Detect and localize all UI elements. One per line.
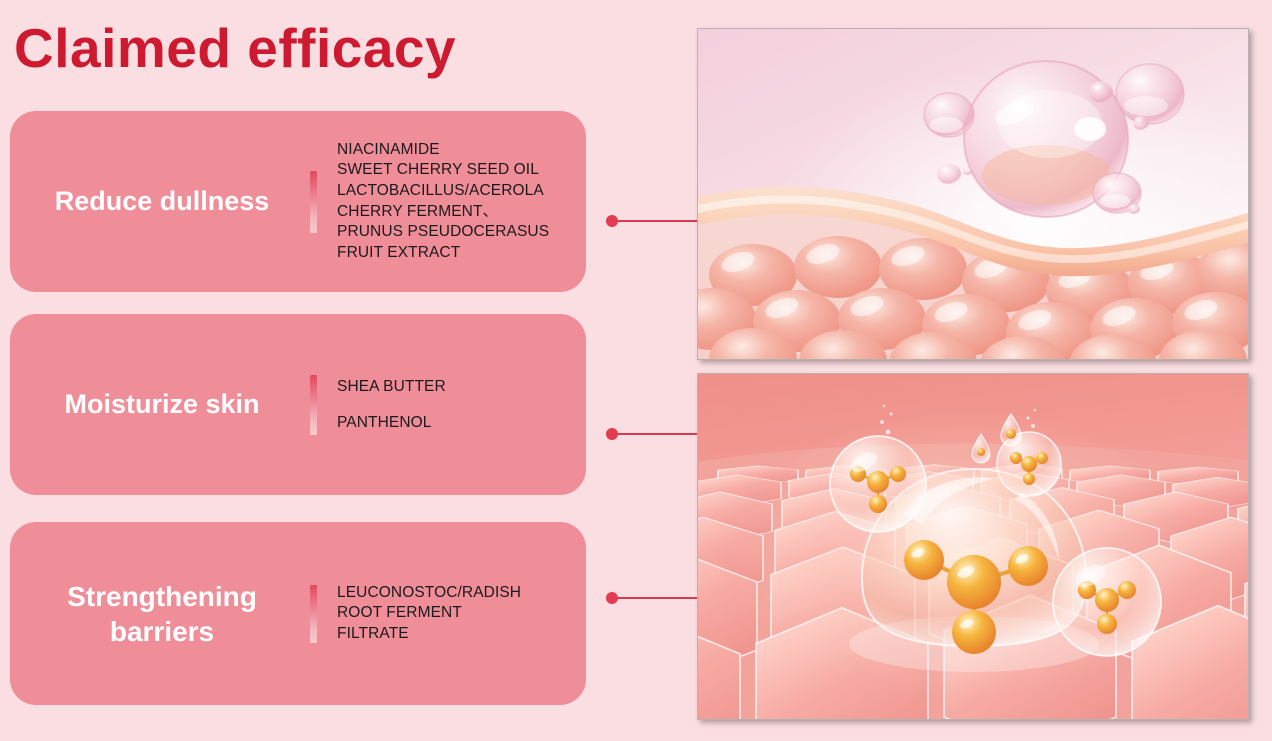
ingredient-list: LEUCONOSTOC/RADISH ROOT FERMENT FILTRATE [317, 583, 586, 645]
gradient-divider-bar [310, 375, 317, 435]
ingredient-list: SHEA BUTTER PANTHENOL [317, 369, 586, 441]
skin-cross-section-image [697, 28, 1249, 360]
gradient-divider-bar [310, 171, 317, 233]
skin-cross-section-illustration [698, 29, 1248, 359]
efficacy-card-label: Strengthening barriers [10, 579, 310, 649]
efficacy-card-reduce-dullness[interactable]: Reduce dullness NIACINAMIDE SWEET CHERRY… [10, 111, 586, 292]
ingredient-line: CHERRY FERMENT、 [337, 202, 586, 223]
gradient-divider-bar [310, 585, 317, 643]
connector-line-card1 [606, 215, 702, 227]
hexagonal-skin-cells-image [697, 373, 1249, 720]
efficacy-card-label: Reduce dullness [10, 185, 310, 219]
ingredient-line: PRUNUS PSEUDOCERASUS [337, 222, 586, 243]
hexagonal-skin-cells-render [698, 374, 1248, 719]
efficacy-card-moisturize-skin[interactable]: Moisturize skin SHEA BUTTER PANTHENOL [10, 314, 586, 495]
ingredient-line: NIACINAMIDE [337, 140, 586, 161]
connector-line-card3 [606, 592, 702, 604]
ingredient-line: PANTHENOL [337, 405, 586, 441]
ingredient-line: SHEA BUTTER [337, 369, 586, 405]
connector-line-card2 [606, 428, 702, 440]
efficacy-card-label: Moisturize skin [10, 388, 310, 422]
connector-stroke [617, 433, 702, 435]
efficacy-card-strengthening-barriers[interactable]: Strengthening barriers LEUCONOSTOC/RADIS… [10, 522, 586, 705]
ingredient-line: FRUIT EXTRACT [337, 243, 586, 264]
ingredient-line: SWEET CHERRY SEED OIL [337, 160, 586, 181]
connector-stroke [617, 597, 702, 599]
connector-stroke [617, 220, 702, 222]
slide-canvas: Claimed efficacy Reduce dullness NIACINA… [0, 0, 1272, 741]
page-title: Claimed efficacy [14, 18, 456, 79]
ingredient-line: LACTOBACILLUS/ACEROLA [337, 181, 586, 202]
ingredient-line: LEUCONOSTOC/RADISH [337, 583, 586, 604]
ingredient-line: FILTRATE [337, 624, 586, 645]
ingredient-line: ROOT FERMENT [337, 603, 586, 624]
ingredient-list: NIACINAMIDE SWEET CHERRY SEED OIL LACTOB… [317, 140, 586, 264]
